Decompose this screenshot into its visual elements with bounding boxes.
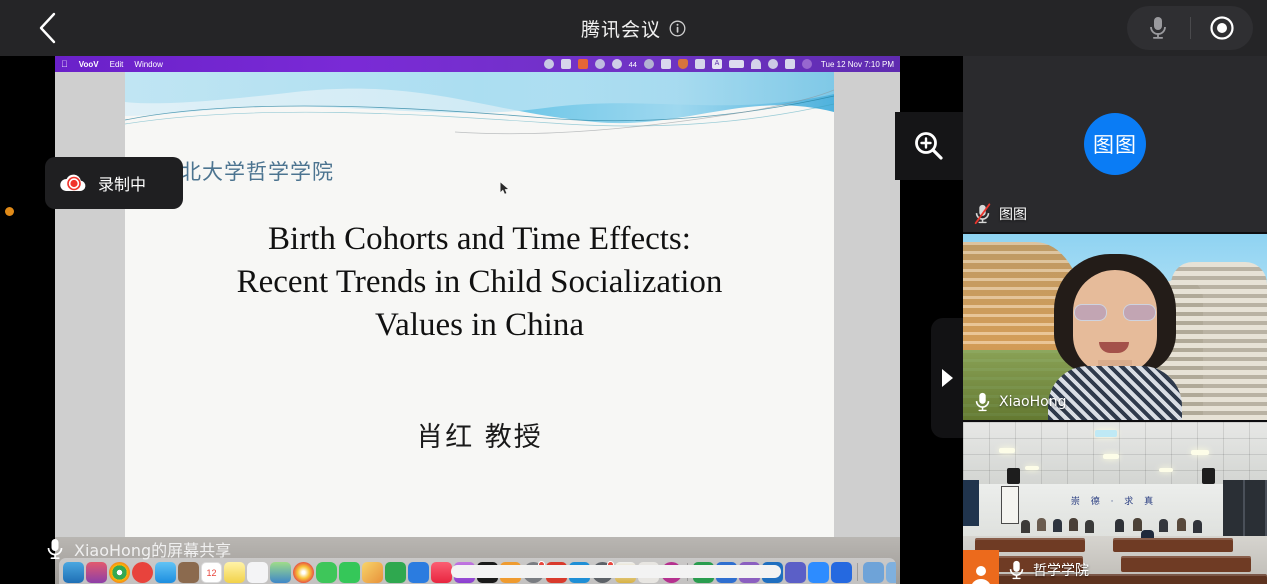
- facetime-icon[interactable]: [339, 562, 360, 583]
- top-right-controls: [1127, 6, 1253, 50]
- screen-share-label: XiaoHong的屏幕共享: [45, 535, 231, 563]
- microphone-icon: [45, 537, 65, 561]
- classroom-desk: [1113, 538, 1233, 552]
- meeting-title: 腾讯会议: [581, 15, 661, 42]
- contacts-icon[interactable]: [178, 562, 199, 583]
- messages-icon[interactable]: [316, 562, 337, 583]
- microphone-icon: [973, 391, 992, 413]
- student: [1193, 520, 1202, 533]
- student: [1069, 518, 1078, 531]
- notes-icon[interactable]: [224, 562, 245, 583]
- dock-divider-2: [857, 563, 858, 581]
- network-icon[interactable]: [578, 59, 588, 69]
- teams-icon[interactable]: [785, 562, 806, 583]
- participants-sidebar: 图图 图图: [963, 56, 1267, 584]
- wall-calligraphy-frame: [1001, 486, 1019, 524]
- numbers-icon[interactable]: [385, 562, 406, 583]
- freeform-icon[interactable]: [362, 562, 383, 583]
- participant-name: 图图: [999, 204, 1027, 224]
- slide-title-line-3: Values in China: [125, 304, 834, 347]
- slide-title-line-1: Birth Cohorts and Time Effects:: [125, 218, 834, 261]
- cloud-record-icon: [59, 171, 89, 195]
- apple-logo-icon[interactable]: : [61, 60, 68, 69]
- person-face: [1073, 270, 1157, 374]
- wechat-icon[interactable]: [612, 59, 622, 69]
- camera-icon[interactable]: [544, 59, 554, 69]
- slide-author: 肖红 教授: [125, 415, 834, 454]
- participant-name-group: XiaoHong: [973, 391, 1066, 413]
- binoculars-icon[interactable]: [661, 59, 671, 69]
- ceiling-light: [1191, 450, 1209, 455]
- ceiling-light: [999, 448, 1015, 453]
- user-avatar-icon: [968, 562, 994, 584]
- microphone-muted-icon: [973, 203, 992, 225]
- student: [1053, 519, 1062, 532]
- display-icon[interactable]: [695, 59, 705, 69]
- wall-panel-left: [963, 480, 979, 526]
- student: [1177, 518, 1186, 531]
- input-source-icon: A: [712, 59, 722, 69]
- slide-wave-decoration: [125, 72, 834, 158]
- student: [1085, 520, 1094, 533]
- student: [1159, 519, 1168, 532]
- participant-name-group: 图图: [973, 203, 1027, 225]
- slide-title-line-2: Recent Trends in Child Socialization: [125, 261, 834, 304]
- record-button[interactable]: [1191, 6, 1254, 50]
- presentation-slide: 西北大学哲学学院 Birth Cohorts and Time Effects:…: [125, 72, 834, 537]
- chrome-icon[interactable]: [109, 562, 130, 583]
- participant-name-group: 哲学学院: [1007, 559, 1089, 581]
- participant-name: 哲学学院: [1033, 560, 1089, 580]
- downloads-icon[interactable]: [863, 562, 884, 583]
- sidebar-collapse-handle[interactable]: [931, 318, 963, 438]
- tray-count: 44: [629, 60, 637, 69]
- globe-icon[interactable]: [644, 59, 654, 69]
- host-avatar-badge: [963, 550, 999, 584]
- classroom-desk: [1121, 556, 1251, 572]
- person-torso: [1048, 366, 1182, 420]
- ceiling-light: [1025, 466, 1039, 470]
- wall-speaker-right: [1202, 468, 1215, 484]
- back-button[interactable]: [26, 8, 68, 48]
- recording-label: 录制中: [98, 171, 146, 195]
- menu-item-voov[interactable]: VooV: [79, 60, 99, 69]
- student: [1133, 518, 1142, 531]
- menu-item-edit[interactable]: Edit: [110, 60, 124, 69]
- slide-organization: 西北大学哲学学院: [158, 156, 334, 186]
- microphone-icon: [1147, 15, 1169, 41]
- top-bar: 腾讯会议: [0, 0, 1267, 56]
- reminders-icon[interactable]: [247, 562, 268, 583]
- record-circle-icon: [1209, 15, 1235, 41]
- participant-name: XiaoHong: [999, 394, 1066, 410]
- magnifier-plus-icon: [911, 128, 947, 164]
- mic-toggle-button[interactable]: [1127, 6, 1190, 50]
- ceiling-light: [1159, 468, 1173, 472]
- menu-item-window[interactable]: Window: [134, 60, 162, 69]
- wall-slogan: 崇 德 · 求 真: [1059, 494, 1169, 507]
- mac-clock[interactable]: Tue 12 Nov 7:10 PM: [819, 60, 894, 69]
- ceiling-light: [1103, 454, 1119, 459]
- avatar: 图图: [1084, 113, 1146, 175]
- participant-tile-tutu[interactable]: 图图 图图: [963, 56, 1267, 232]
- connection-status-dot: [5, 207, 14, 216]
- music-icon[interactable]: [431, 562, 452, 583]
- mouse-cursor-icon: [500, 182, 509, 195]
- shield-icon[interactable]: [678, 59, 688, 69]
- wifi-icon[interactable]: [751, 59, 761, 69]
- battery-icon[interactable]: [729, 60, 744, 68]
- maps-icon[interactable]: [270, 562, 291, 583]
- control-center-icon[interactable]: [785, 59, 795, 69]
- meeting-title-group: 腾讯会议: [0, 0, 1267, 56]
- shared-screen-area[interactable]:  VooV Edit Window 44 A: [0, 56, 963, 584]
- at-icon[interactable]: [595, 59, 605, 69]
- dock-tooltip: [451, 565, 781, 578]
- participant-tile-classroom[interactable]: 崇 德 · 求 真: [963, 422, 1267, 584]
- shared-mac-desktop:  VooV Edit Window 44 A: [55, 56, 900, 584]
- photos-icon[interactable]: [293, 562, 314, 583]
- siri-icon[interactable]: [802, 59, 812, 69]
- student: [1037, 518, 1046, 531]
- launchpad-icon[interactable]: [86, 562, 107, 583]
- mac-menu-bar:  VooV Edit Window 44 A: [55, 56, 900, 72]
- triangle-right-icon: [939, 368, 955, 388]
- info-circle-icon[interactable]: [669, 20, 686, 37]
- opera-icon[interactable]: [132, 562, 153, 583]
- mac-menu-tray: 44 A Tue 12 Nov 7:10 PM: [544, 59, 894, 69]
- documents-icon[interactable]: [886, 562, 896, 583]
- classroom-window: [1223, 480, 1267, 536]
- appstore-icon[interactable]: [408, 562, 429, 583]
- student: [1115, 519, 1124, 532]
- student: [1021, 520, 1030, 533]
- zoom-icon[interactable]: [808, 562, 829, 583]
- chevron-left-icon: [36, 11, 58, 45]
- person-glasses: [1074, 304, 1156, 321]
- wall-speaker-left: [1007, 468, 1020, 484]
- microphone-icon: [1007, 559, 1026, 581]
- projector: [1095, 430, 1117, 437]
- recording-indicator[interactable]: 录制中: [45, 157, 183, 209]
- voov-icon[interactable]: [831, 562, 852, 583]
- finder-icon[interactable]: [63, 562, 84, 583]
- participant-tile-xiaohong[interactable]: XiaoHong: [963, 234, 1267, 420]
- screen-share-owner: XiaoHong的屏幕共享: [74, 537, 231, 561]
- mail-icon[interactable]: [155, 562, 176, 583]
- printer-icon[interactable]: [561, 59, 571, 69]
- calendar-icon: 12: [201, 562, 222, 583]
- meeting-window: 腾讯会议: [0, 0, 1267, 584]
- slide-title: Birth Cohorts and Time Effects: Recent T…: [125, 218, 834, 347]
- zoom-in-button[interactable]: [895, 112, 963, 180]
- search-icon[interactable]: [768, 59, 778, 69]
